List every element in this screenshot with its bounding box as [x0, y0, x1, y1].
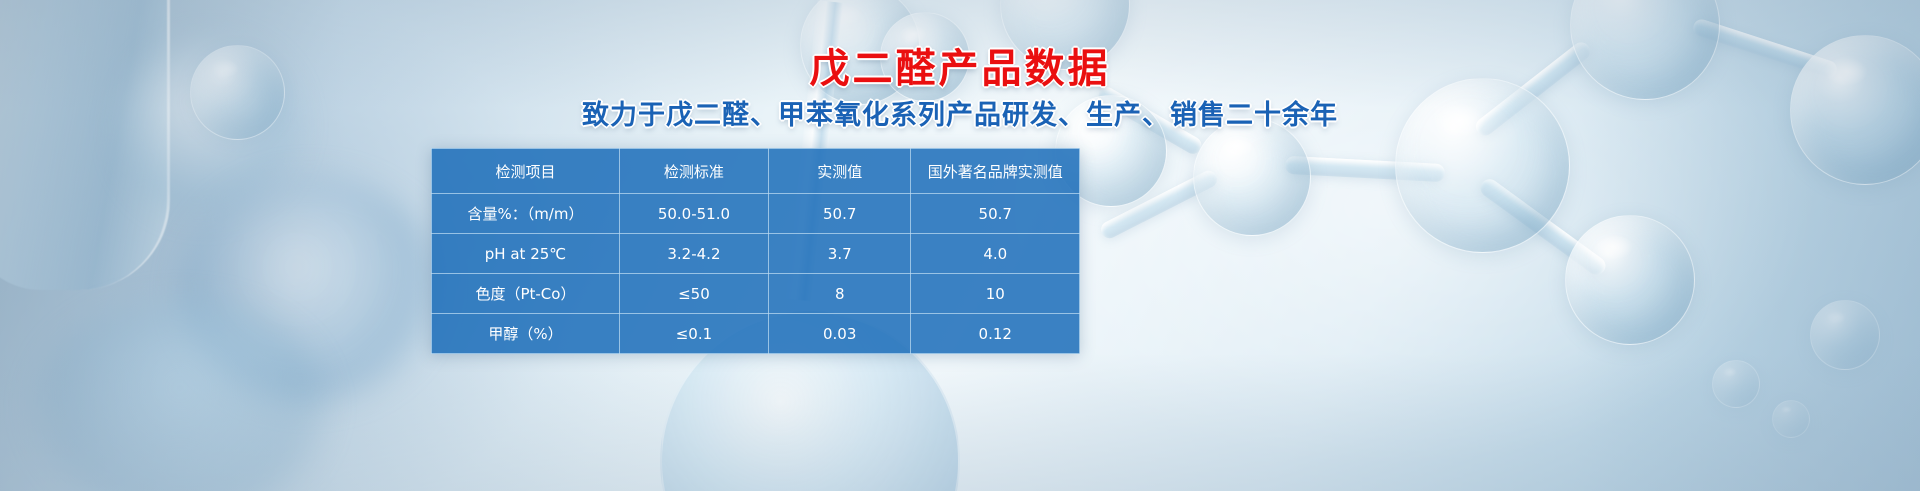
table-header-cell-foreign: 国外著名品牌实测值: [911, 149, 1080, 194]
cell-measured: 3.7: [768, 234, 911, 274]
product-spec-table-wrapper: 检测项目 检测标准 实测值 国外著名品牌实测值 含量%：（m/m） 50.0-5…: [431, 148, 1080, 354]
cell-standard: 3.2-4.2: [619, 234, 768, 274]
cell-standard: ≤0.1: [619, 314, 768, 354]
table-row: 含量%：（m/m） 50.0-51.0 50.7 50.7: [432, 194, 1080, 234]
page-title: 戊二醛产品数据: [0, 46, 1920, 92]
cell-foreign: 10: [911, 274, 1080, 314]
cell-item: 色度（Pt-Co）: [432, 274, 620, 314]
table-header: 检测项目 检测标准 实测值 国外著名品牌实测值: [432, 149, 1080, 194]
cell-foreign: 0.12: [911, 314, 1080, 354]
cell-measured: 0.03: [768, 314, 911, 354]
table-header-cell-item: 检测项目: [432, 149, 620, 194]
table-row: 甲醇（%） ≤0.1 0.03 0.12: [432, 314, 1080, 354]
table-header-cell-measured: 实测值: [768, 149, 911, 194]
table-row: 色度（Pt-Co） ≤50 8 10: [432, 274, 1080, 314]
cell-measured: 50.7: [768, 194, 911, 234]
table-row: pH at 25℃ 3.2-4.2 3.7 4.0: [432, 234, 1080, 274]
cell-item: 甲醇（%）: [432, 314, 620, 354]
table-header-row: 检测项目 检测标准 实测值 国外著名品牌实测值: [432, 149, 1080, 194]
cell-foreign: 4.0: [911, 234, 1080, 274]
banner-title-block: 戊二醛产品数据 致力于戊二醛、甲苯氧化系列产品研发、生产、销售二十余年: [0, 46, 1920, 132]
product-spec-table: 检测项目 检测标准 实测值 国外著名品牌实测值 含量%：（m/m） 50.0-5…: [431, 148, 1080, 354]
cell-foreign: 50.7: [911, 194, 1080, 234]
table-header-cell-standard: 检测标准: [619, 149, 768, 194]
table-body: 含量%：（m/m） 50.0-51.0 50.7 50.7 pH at 25℃ …: [432, 194, 1080, 354]
cell-item: 含量%：（m/m）: [432, 194, 620, 234]
cell-measured: 8: [768, 274, 911, 314]
cell-item: pH at 25℃: [432, 234, 620, 274]
product-data-banner: 戊二醛产品数据 致力于戊二醛、甲苯氧化系列产品研发、生产、销售二十余年 检测项目…: [0, 0, 1920, 491]
cell-standard: ≤50: [619, 274, 768, 314]
page-subtitle: 致力于戊二醛、甲苯氧化系列产品研发、生产、销售二十余年: [0, 100, 1920, 132]
cell-standard: 50.0-51.0: [619, 194, 768, 234]
